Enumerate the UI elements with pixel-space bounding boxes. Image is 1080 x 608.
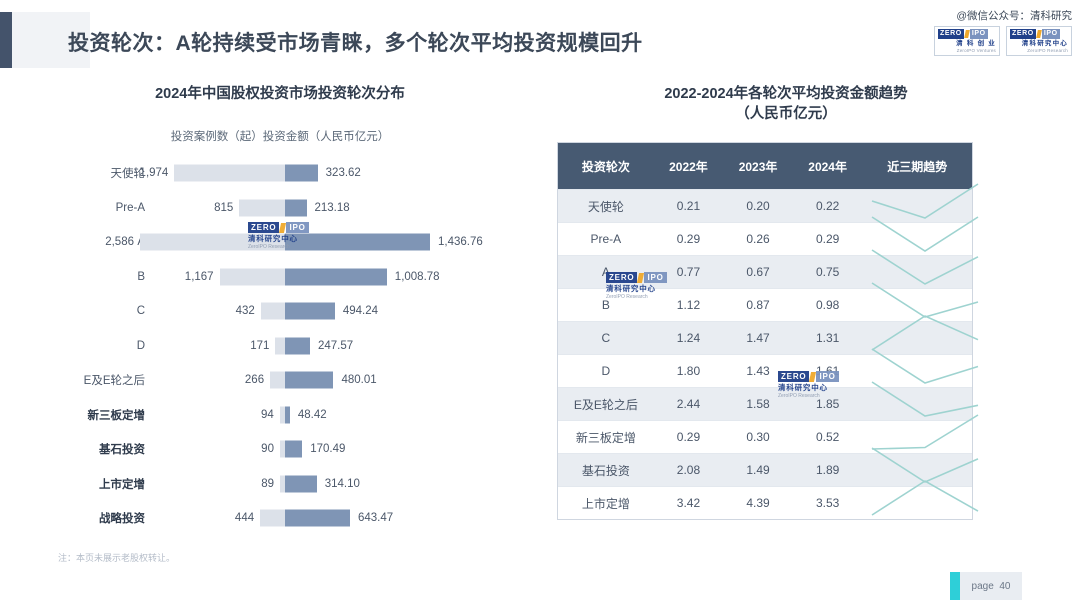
chart-row: D171247.57 <box>40 329 520 363</box>
table-row: A0.770.670.75 <box>558 255 972 288</box>
bar-count <box>260 510 285 527</box>
bar-count <box>270 372 285 389</box>
logo-ipo-text: IPO <box>970 29 988 39</box>
table-cell-trend <box>862 289 972 321</box>
bar-amount <box>285 165 318 182</box>
table-cell-2024: 0.75 <box>793 265 863 279</box>
table-row: 天使轮0.210.200.22 <box>558 189 972 222</box>
table-cell-trend <box>862 388 972 420</box>
table-cell-trend <box>862 421 972 453</box>
left-chart-panel: 2024年中国股权投资市场投资轮次分布 投资案例数（起）投资金额（人民币亿元） … <box>40 84 520 554</box>
bar-count <box>239 199 285 216</box>
table-row: B1.120.870.98 <box>558 288 972 321</box>
trend-sparkline <box>862 322 988 354</box>
chart-row-label: D <box>40 340 145 352</box>
chart-row: 战略投资444643.47 <box>40 501 520 535</box>
column-header-2022: 2022年 <box>654 158 724 175</box>
table-row: D1.801.431.61 <box>558 354 972 387</box>
trend-sparkline <box>862 190 988 222</box>
logo-cn-text: 清 科 创 业 <box>938 40 996 48</box>
table-body: 天使轮0.210.200.22Pre-A0.290.260.29A0.770.6… <box>558 189 972 519</box>
chart-row: 上市定增89314.10 <box>40 467 520 501</box>
right-table-panel: 2022-2024年各轮次平均投资金额趋势 （人民币亿元） 投资轮次 2022年… <box>556 84 1016 124</box>
table-cell-trend <box>862 355 972 387</box>
zeroipo-ventures-logo: ZERO IPO 清 科 创 业 ZeroIPO Ventures <box>934 26 1000 56</box>
bar-count <box>275 337 285 354</box>
table-cell-2023: 1.43 <box>723 364 793 378</box>
table-row: 上市定增3.424.393.53 <box>558 486 972 519</box>
page-indicator-accent <box>950 572 960 600</box>
table-cell-round: 新三板定增 <box>558 429 654 446</box>
chart-row: A2,5861,436.76 <box>40 225 520 259</box>
bar-amount <box>285 372 333 389</box>
bar-amount <box>285 510 350 527</box>
table-cell-round: A <box>558 265 654 279</box>
table-cell-2024: 3.53 <box>793 496 863 510</box>
table-row: 新三板定增0.290.300.52 <box>558 420 972 453</box>
legend-count-label: 投资案例数（起） <box>171 131 263 143</box>
table-cell-trend <box>862 256 972 288</box>
table-cell-2024: 0.98 <box>793 298 863 312</box>
column-header-2024: 2024年 <box>793 158 863 175</box>
table-cell-trend <box>862 223 972 255</box>
bar-amount <box>285 268 387 285</box>
trend-table: 投资轮次 2022年 2023年 2024年 近三期趋势 天使轮0.210.20… <box>557 142 973 520</box>
table-cell-2024: 1.85 <box>793 397 863 411</box>
chart-amount-value: 314.10 <box>325 478 360 490</box>
logo-zero-text: ZERO <box>1010 29 1036 39</box>
page-number: 40 <box>999 581 1010 592</box>
chart-row: 天使轮1,974323.62 <box>40 156 520 190</box>
chart-row: B1,1671,008.78 <box>40 260 520 294</box>
bar-amount <box>285 441 302 458</box>
footnote: 注：本页未展示老股权转让。 <box>58 551 175 564</box>
table-row: E及E轮之后2.441.581.85 <box>558 387 972 420</box>
logo-cn-text: 清科研究中心 <box>1010 40 1068 48</box>
table-cell-2024: 1.89 <box>793 463 863 477</box>
trend-sparkline <box>862 223 988 255</box>
chart-count-value: 2,586 <box>105 236 134 248</box>
logo-zero-text: ZERO <box>938 29 964 39</box>
table-cell-2022: 3.42 <box>654 496 724 510</box>
table-cell-2024: 1.61 <box>793 364 863 378</box>
table-cell-round: C <box>558 331 654 345</box>
table-cell-2023: 4.39 <box>723 496 793 510</box>
chart-count-value: 444 <box>235 512 254 524</box>
bar-count <box>174 165 285 182</box>
bar-amount <box>285 234 430 251</box>
column-header-2023: 2023年 <box>723 158 793 175</box>
chart-row-label: Pre-A <box>40 202 145 214</box>
table-cell-2022: 2.08 <box>654 463 724 477</box>
table-cell-2022: 0.21 <box>654 199 724 213</box>
logo-row: ZERO IPO 清 科 创 业 ZeroIPO Ventures ZERO I… <box>934 26 1072 56</box>
table-cell-2024: 0.29 <box>793 232 863 246</box>
table-cell-2024: 0.52 <box>793 430 863 444</box>
bar-amount <box>285 303 335 320</box>
table-cell-2023: 0.26 <box>723 232 793 246</box>
title-accent-bar <box>0 12 12 68</box>
chart-amount-value: 247.57 <box>318 340 353 352</box>
trend-sparkline <box>862 388 988 420</box>
chart-row: Pre-A815213.18 <box>40 191 520 225</box>
table-cell-2023: 1.49 <box>723 463 793 477</box>
bar-amount <box>285 199 307 216</box>
chart-amount-value: 643.47 <box>358 512 393 524</box>
bar-amount <box>285 475 317 492</box>
trend-sparkline <box>862 256 988 288</box>
table-cell-trend <box>862 190 972 222</box>
trend-sparkline <box>862 487 988 519</box>
chart-row-label: E及E轮之后 <box>40 372 145 388</box>
legend-amount-label: 投资金额（人民币亿元） <box>263 131 390 143</box>
table-header-row: 投资轮次 2022年 2023年 2024年 近三期趋势 <box>558 143 972 189</box>
chart-row: C432494.24 <box>40 294 520 328</box>
chart-row-label: 基石投资 <box>40 441 145 457</box>
chart-count-value: 171 <box>250 340 269 352</box>
table-cell-2023: 1.58 <box>723 397 793 411</box>
chart-row: 基石投资90170.49 <box>40 432 520 466</box>
table-cell-round: 天使轮 <box>558 198 654 215</box>
bar-count <box>220 268 285 285</box>
brand-block: @微信公众号：清科研究 ZERO IPO 清 科 创 业 ZeroIPO Ven… <box>934 8 1072 56</box>
logo-ipo-text: IPO <box>1042 29 1060 39</box>
table-cell-2022: 0.29 <box>654 430 724 444</box>
chart-count-value: 89 <box>261 478 274 490</box>
table-row: C1.241.471.31 <box>558 321 972 354</box>
table-cell-2023: 0.30 <box>723 430 793 444</box>
trend-sparkline <box>862 355 988 387</box>
chart-amount-value: 48.42 <box>298 409 327 421</box>
chart-row-label: C <box>40 305 145 317</box>
chart-count-value: 815 <box>214 202 233 214</box>
table-cell-2022: 0.77 <box>654 265 724 279</box>
wechat-handle: @微信公众号：清科研究 <box>934 8 1072 23</box>
table-cell-2023: 0.20 <box>723 199 793 213</box>
chart-amount-value: 494.24 <box>343 305 378 317</box>
chart-amount-value: 170.49 <box>310 443 345 455</box>
table-cell-2022: 1.80 <box>654 364 724 378</box>
bar-count <box>140 234 285 251</box>
table-cell-trend <box>862 454 972 486</box>
chart-count-value: 266 <box>245 374 264 386</box>
column-header-trend: 近三期趋势 <box>862 143 972 189</box>
bar-amount <box>285 337 310 354</box>
page-label: page <box>972 581 994 592</box>
chart-count-value: 90 <box>261 443 274 455</box>
column-header-round: 投资轮次 <box>558 158 654 175</box>
chart-amount-value: 213.18 <box>315 202 350 214</box>
page-title: 投资轮次：A轮持续受市场青睐，多个轮次平均投资规模回升 <box>68 27 643 57</box>
table-cell-2023: 1.47 <box>723 331 793 345</box>
chart-row-label: 新三板定增 <box>40 407 145 423</box>
table-cell-2022: 0.29 <box>654 232 724 246</box>
logo-spark-icon <box>1036 30 1042 38</box>
table-cell-2023: 0.87 <box>723 298 793 312</box>
table-cell-2023: 0.67 <box>723 265 793 279</box>
chart-row-label: B <box>40 271 145 283</box>
chart-count-value: 1,974 <box>140 167 169 179</box>
table-cell-2024: 0.22 <box>793 199 863 213</box>
zeroipo-research-logo: ZERO IPO 清科研究中心 ZeroIPO Research <box>1006 26 1072 56</box>
table-cell-2022: 1.12 <box>654 298 724 312</box>
table-row: 基石投资2.081.491.89 <box>558 453 972 486</box>
chart-amount-value: 480.01 <box>341 374 376 386</box>
table-cell-round: B <box>558 298 654 312</box>
table-cell-2024: 1.31 <box>793 331 863 345</box>
chart-row: 新三板定增9448.42 <box>40 398 520 432</box>
chart-row-label: 上市定增 <box>40 476 145 492</box>
logo-en-text: ZeroIPO Research <box>1010 48 1068 54</box>
page-indicator-text: page 40 <box>960 572 1022 600</box>
right-table-title-line1: 2022-2024年各轮次平均投资金额趋势 <box>556 84 1016 104</box>
chart-amount-value: 323.62 <box>326 167 361 179</box>
bar-count <box>261 303 285 320</box>
chart-row-label: 天使轮 <box>40 165 145 181</box>
table-cell-2022: 1.24 <box>654 331 724 345</box>
logo-spark-icon <box>964 30 970 38</box>
table-cell-round: 上市定增 <box>558 495 654 512</box>
table-row: Pre-A0.290.260.29 <box>558 222 972 255</box>
table-cell-round: D <box>558 364 654 378</box>
chart-count-value: 94 <box>261 409 274 421</box>
table-cell-trend <box>862 487 972 519</box>
chart-row: E及E轮之后266480.01 <box>40 363 520 397</box>
bar-amount <box>285 406 290 423</box>
left-chart-legend: 投资案例数（起）投资金额（人民币亿元） <box>40 128 520 144</box>
table-cell-round: 基石投资 <box>558 462 654 479</box>
left-chart-title: 2024年中国股权投资市场投资轮次分布 <box>40 84 520 104</box>
chart-count-value: 1,167 <box>185 271 214 283</box>
table-cell-trend <box>862 322 972 354</box>
chart-amount-value: 1,436.76 <box>438 236 483 248</box>
chart-count-value: 432 <box>236 305 255 317</box>
right-table-title-line2: （人民币亿元） <box>556 104 1016 124</box>
table-cell-round: Pre-A <box>558 232 654 246</box>
trend-sparkline <box>862 421 988 453</box>
logo-en-text: ZeroIPO Ventures <box>938 48 996 54</box>
table-cell-2022: 2.44 <box>654 397 724 411</box>
chart-row-label: 战略投资 <box>40 510 145 526</box>
chart-amount-value: 1,008.78 <box>395 271 440 283</box>
table-cell-round: E及E轮之后 <box>558 396 654 413</box>
